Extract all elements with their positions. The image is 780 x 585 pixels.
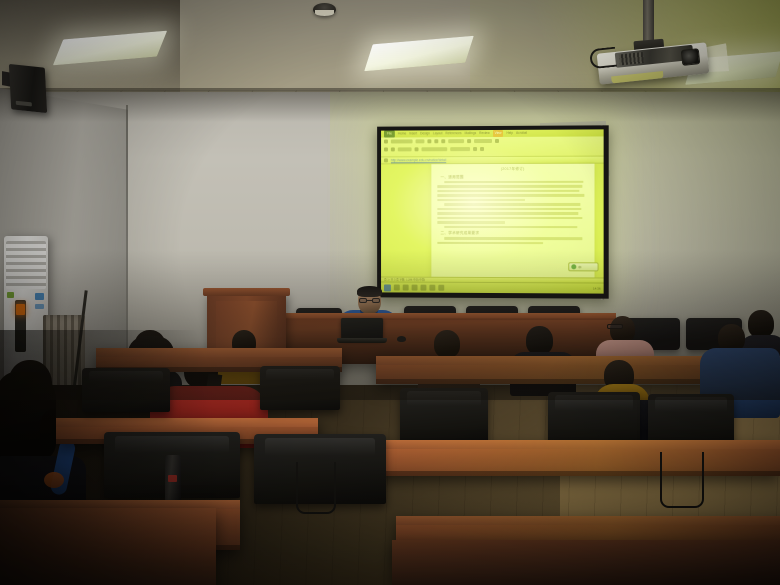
paste-icon[interactable] (384, 140, 388, 144)
find-icon[interactable] (495, 139, 499, 143)
chair-leg-frame-1 (296, 462, 336, 514)
classroom-photo: File Home Insert Design Layout Reference… (0, 0, 780, 585)
indent-group[interactable] (398, 147, 412, 151)
desk-row-3-front (0, 508, 216, 585)
document-hyperlink[interactable]: http://www.example.edu.cn/notice/detail (391, 158, 446, 162)
desk-edge (376, 471, 780, 476)
font-name-box[interactable] (391, 139, 413, 143)
ribbon-row-1 (384, 137, 601, 144)
projector-lens-icon (681, 48, 701, 66)
desk-row-4-front (392, 540, 780, 585)
link-icon[interactable] (384, 158, 388, 162)
document-header: (2017年修订) (432, 167, 595, 172)
document-paragraph-3 (438, 226, 589, 229)
document-paragraph-2 (438, 203, 589, 223)
ribbon-tab-3[interactable]: Layout (433, 130, 442, 137)
chair-leg-frame-2 (660, 452, 704, 508)
underline-icon[interactable] (441, 139, 445, 143)
ribbon-tab-8[interactable]: Help (506, 130, 513, 137)
document-heading-2: 二、学术研究成果要求 (441, 231, 595, 236)
editing-group[interactable] (450, 147, 470, 151)
align-icon[interactable] (467, 139, 471, 143)
ambient-shadow (0, 250, 780, 400)
desk-surface (56, 418, 318, 427)
numbering-icon[interactable] (384, 147, 388, 151)
replace-icon[interactable] (473, 147, 477, 151)
desk-row-2 (376, 440, 780, 476)
screen-brand-label (560, 125, 608, 133)
projector-cable (589, 47, 617, 70)
app-ribbon-body (381, 136, 604, 157)
ribbon-tab-2[interactable]: Design (420, 130, 430, 137)
bold-icon[interactable] (427, 139, 431, 143)
wall-top-shadow (0, 88, 780, 122)
ribbon-tab-file[interactable]: File (384, 131, 395, 138)
wall-speaker (9, 64, 47, 113)
ribbon-tab-0[interactable]: Home (398, 130, 406, 137)
orange-item[interactable] (44, 472, 64, 488)
ribbon-tab-5[interactable]: Mailings (465, 130, 477, 137)
line-spacing-icon[interactable] (415, 147, 419, 151)
ribbon-tab-6[interactable]: Review (479, 130, 489, 137)
ribbon-tab-7[interactable]: View (493, 130, 504, 137)
ribbon-tab-1[interactable]: Insert (409, 130, 417, 137)
paragraph-group[interactable] (448, 139, 464, 143)
ribbon-row-2 (384, 146, 601, 153)
document-heading-1: 一、适用范围 (441, 175, 595, 180)
ribbon-tab-9[interactable]: Acrobat (516, 130, 527, 137)
document-paragraph-1 (438, 181, 589, 202)
italic-icon[interactable] (434, 139, 438, 143)
select-icon[interactable] (480, 147, 484, 151)
styles-group[interactable] (474, 139, 492, 143)
bullets-icon[interactable] (391, 147, 395, 151)
font-size-box[interactable] (416, 139, 425, 143)
thermos-label (168, 475, 177, 482)
document-paragraph-4 (438, 237, 589, 244)
quick-styles[interactable] (421, 147, 447, 151)
smoke-detector-icon (313, 3, 336, 16)
